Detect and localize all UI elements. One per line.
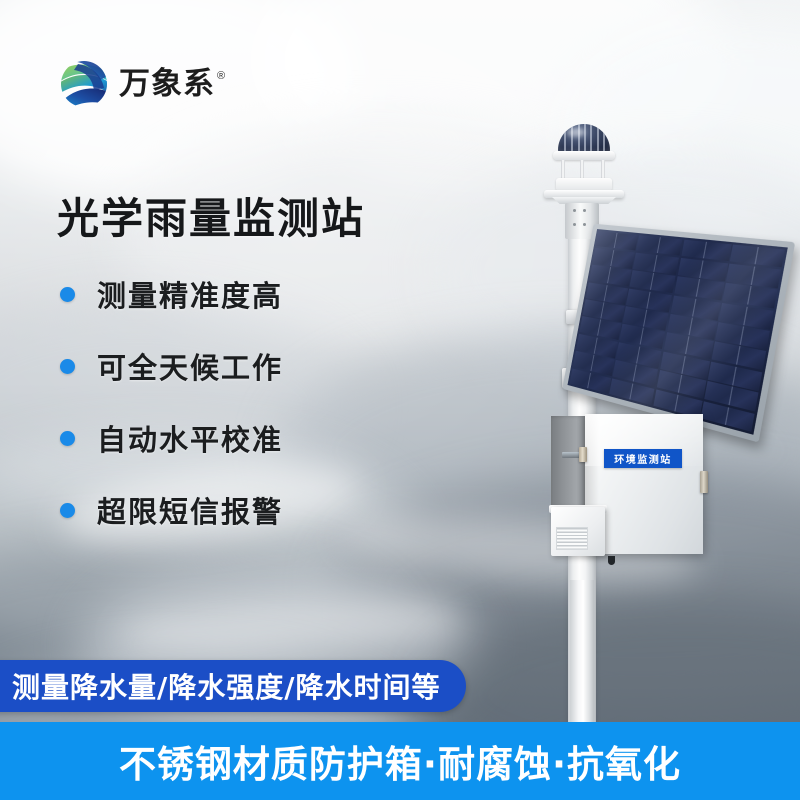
list-item: 自动水平校准: [60, 402, 283, 474]
bullet-dot-icon: [60, 359, 75, 374]
bullet-dot-icon: [60, 431, 75, 446]
feature-label: 自动水平校准: [97, 417, 283, 459]
bottom-tagline-bar: 不锈钢材质防护箱·耐腐蚀·抗氧化: [0, 722, 800, 800]
feature-list: 测量精准度高 可全天候工作 自动水平校准 超限短信报警: [60, 258, 283, 546]
bullet-dot-icon: [60, 503, 75, 518]
bottom-tagline-text: 不锈钢材质防护箱·耐腐蚀·抗氧化: [119, 734, 681, 788]
brand-name: 万象系: [119, 69, 215, 100]
product-poster: 环境监测站: [0, 0, 800, 800]
page-title: 光学雨量监测站: [57, 196, 365, 241]
capability-banner-text: 测量降水量/降水强度/降水时间等: [12, 666, 440, 706]
bullet-dot-icon: [60, 287, 75, 302]
feature-label: 可全天候工作: [97, 345, 283, 387]
list-item: 测量精准度高: [60, 258, 283, 330]
list-item: 超限短信报警: [60, 474, 283, 546]
feature-label: 测量精准度高: [97, 273, 283, 315]
capability-banner: 测量降水量/降水强度/降水时间等: [0, 660, 466, 712]
globe-swirl-logo-icon: [58, 58, 110, 110]
feature-label: 超限短信报警: [97, 489, 283, 531]
brand-logo: 万象系 ®: [58, 58, 225, 110]
trademark-symbol: ®: [217, 70, 225, 82]
list-item: 可全天候工作: [60, 330, 283, 402]
brand-name-block: 万象系 ®: [119, 69, 225, 100]
